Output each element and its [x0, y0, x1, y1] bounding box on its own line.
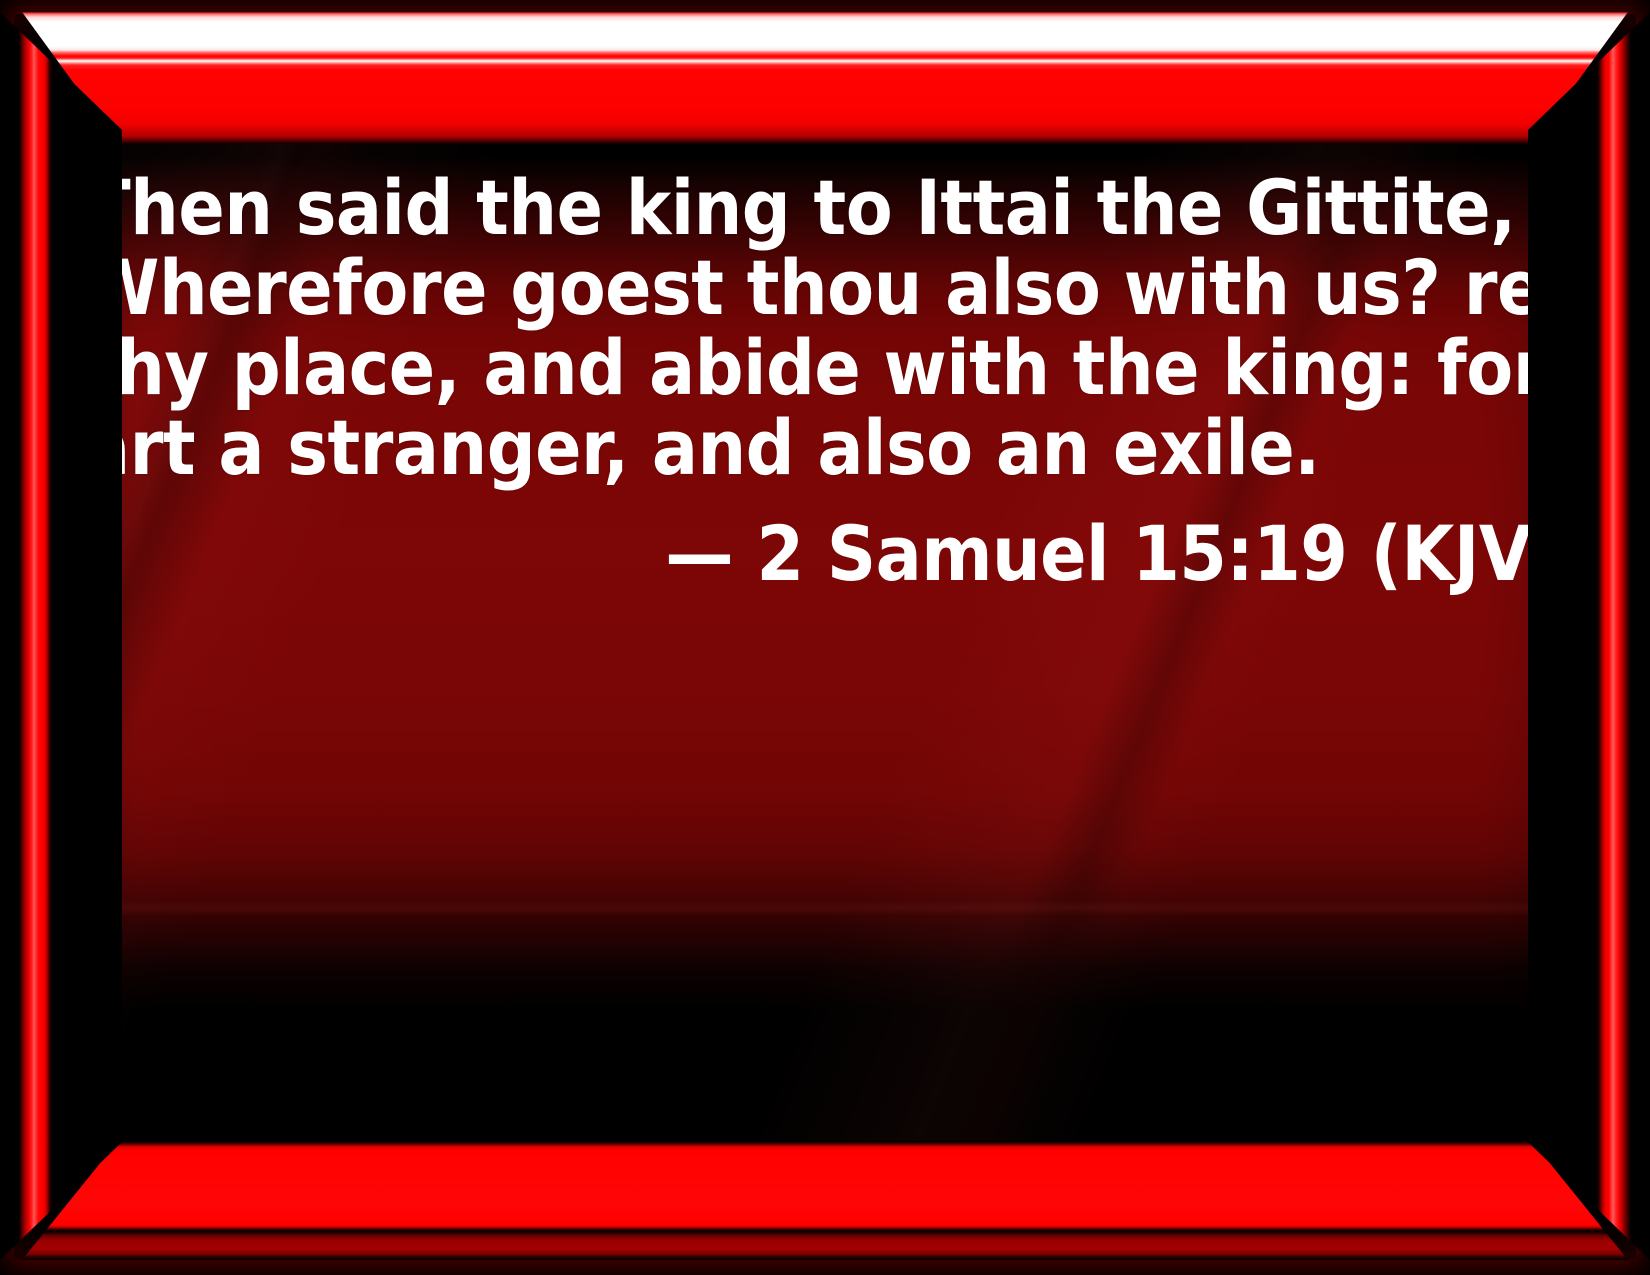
verse-line-2: Wherefore goest thou also with us? retur… [84, 248, 1576, 328]
verse-line-1: Then said the king to Ittai the Gittite, [84, 168, 1576, 248]
frame-top-bar [0, 12, 1650, 144]
verse-attribution: — 2 Samuel 15:19 (KJV) [84, 514, 1576, 594]
verse-line-3: thy place, and abide with the king: for … [84, 328, 1576, 408]
scripture-slide: Then said the king to Ittai the Gittite,… [0, 0, 1650, 1275]
verse-text-block: Then said the king to Ittai the Gittite,… [84, 168, 1576, 594]
verse-line-4: art a stranger, and also an exile. [84, 408, 1576, 488]
horizontal-streak [108, 900, 1602, 916]
frame-bottom-bar [0, 1141, 1650, 1260]
